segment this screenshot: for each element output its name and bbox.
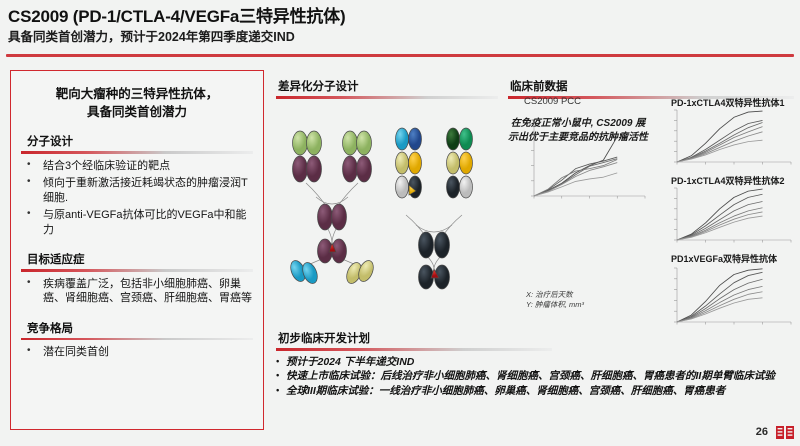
section-heading: 竞争格局: [21, 320, 253, 338]
section-competitive-landscape: 竞争格局 潜在同类首创: [21, 320, 253, 360]
page-subtitle: 具备同类首创潜力，预计于2024年第四季度递交IND: [8, 29, 792, 46]
section-heading: 目标适应症: [21, 251, 253, 269]
section-underline: [21, 269, 253, 272]
clinical-plan-list: 预计于2024 下半年递交IND 快速上市临床试验：后线治疗非小细胞肺癌、肾细胞…: [276, 356, 794, 399]
antibody-diagram-group: [276, 125, 498, 300]
chart-pd1xctla4-bispecific-2: PD-1xCTLA4双特异性抗体2: [655, 176, 797, 254]
header-divider: [6, 54, 794, 57]
clinical-plan-heading: 初步临床开发计划: [276, 330, 794, 346]
list-item: 全球III期临床试验：一线治疗非小细胞肺癌、卵巢癌、肾细胞癌、宫颈癌、肝细胞癌、…: [276, 385, 794, 399]
chart-plot-area: [655, 98, 797, 176]
chart-plot-area: [508, 98, 653, 218]
section-bullet-list: 潜在同类首创: [21, 345, 253, 360]
list-item: 预计于2024 下半年递交IND: [276, 356, 794, 370]
antibody-molecule-left: [288, 131, 376, 286]
axis-legend-y: Y: 肿瘤体积, mm³: [526, 300, 584, 310]
page-title: CS2009 (PD-1/CTLA-4/VEGFa三特异性抗体): [8, 6, 792, 28]
clinical-plan-panel: 初步临床开发计划 预计于2024 下半年递交IND 快速上市临床试验：后线治疗非…: [276, 330, 794, 399]
list-item: 潜在同类首创: [21, 345, 253, 360]
chart-plot-area: [655, 176, 797, 254]
chart-plot-area: [655, 254, 797, 338]
section-target-indications: 目标适应症 疾病覆盖广泛，包括非小细胞肺癌、卵巢癌、肾细胞癌、宫颈癌、肝细胞癌、…: [21, 251, 253, 306]
section-underline: [21, 338, 253, 341]
molecular-design-panel: 差异化分子设计: [276, 78, 498, 300]
antibody-molecule-right: [396, 128, 473, 289]
section-underline: [21, 151, 253, 154]
list-item: 倾向于重新激活接近耗竭状态的肿瘤浸润T细胞.: [21, 176, 253, 205]
chart-cs2009-pcc: CS2009 PCC: [508, 98, 653, 218]
left-panel-title-line2: 具备同类首创潜力: [27, 103, 247, 121]
preclinical-heading: 临床前数据: [508, 78, 794, 94]
chart-pd1xctla4-bispecific-1: PD-1xCTLA4双特异性抗体1: [655, 98, 797, 176]
list-item: 与原anti-VEGFa抗体可比的VEGFa中和能力: [21, 208, 253, 237]
left-summary-panel: 靶向大瘤种的三特异性抗体， 具备同类首创潜力 分子设计 结合3个经临床验证的靶点…: [10, 70, 264, 430]
section-heading: 分子设计: [21, 133, 253, 151]
left-panel-title: 靶向大瘤种的三特异性抗体， 具备同类首创潜力: [27, 85, 247, 121]
slide-header: CS2009 (PD-1/CTLA-4/VEGFa三特异性抗体) 具备同类首创潜…: [8, 6, 792, 46]
slide: CS2009 (PD-1/CTLA-4/VEGFa三特异性抗体) 具备同类首创潜…: [0, 0, 800, 446]
molecular-design-heading: 差异化分子设计: [276, 78, 498, 94]
axis-legend-x: X: 治疗后天数: [526, 290, 584, 300]
section-bullet-list: 疾病覆盖广泛，包括非小细胞肺癌、卵巢癌、肾细胞癌、宫颈癌、肝细胞癌、胃癌等: [21, 277, 253, 306]
section-bullet-list: 结合3个经临床验证的靶点 倾向于重新激活接近耗竭状态的肿瘤浸润T细胞. 与原an…: [21, 159, 253, 238]
list-item: 结合3个经临床验证的靶点: [21, 159, 253, 174]
page-number: 26: [756, 426, 768, 438]
molecular-design-underline: [276, 96, 498, 99]
list-item: 疾病覆盖广泛，包括非小细胞肺癌、卵巢癌、肾细胞癌、宫颈癌、肝细胞癌、胃癌等: [21, 277, 253, 306]
left-panel-title-line1: 靶向大瘤种的三特异性抗体，: [27, 85, 247, 103]
section-molecular-design: 分子设计 结合3个经临床验证的靶点 倾向于重新激活接近耗竭状态的肿瘤浸润T细胞.…: [21, 133, 253, 237]
list-item: 快速上市临床试验：后线治疗非小细胞肺癌、肾细胞癌、宫颈癌、肝细胞癌、胃癌患者的I…: [276, 370, 794, 384]
antibody-structures-svg: [276, 125, 498, 300]
company-logo-icon: [776, 426, 794, 439]
chart-pd1xvegfa-bispecific: PD1xVEGFa双特异性抗体: [655, 254, 797, 338]
axis-legend: X: 治疗后天数 Y: 肿瘤体积, mm³: [526, 290, 584, 310]
clinical-plan-underline: [276, 348, 552, 351]
